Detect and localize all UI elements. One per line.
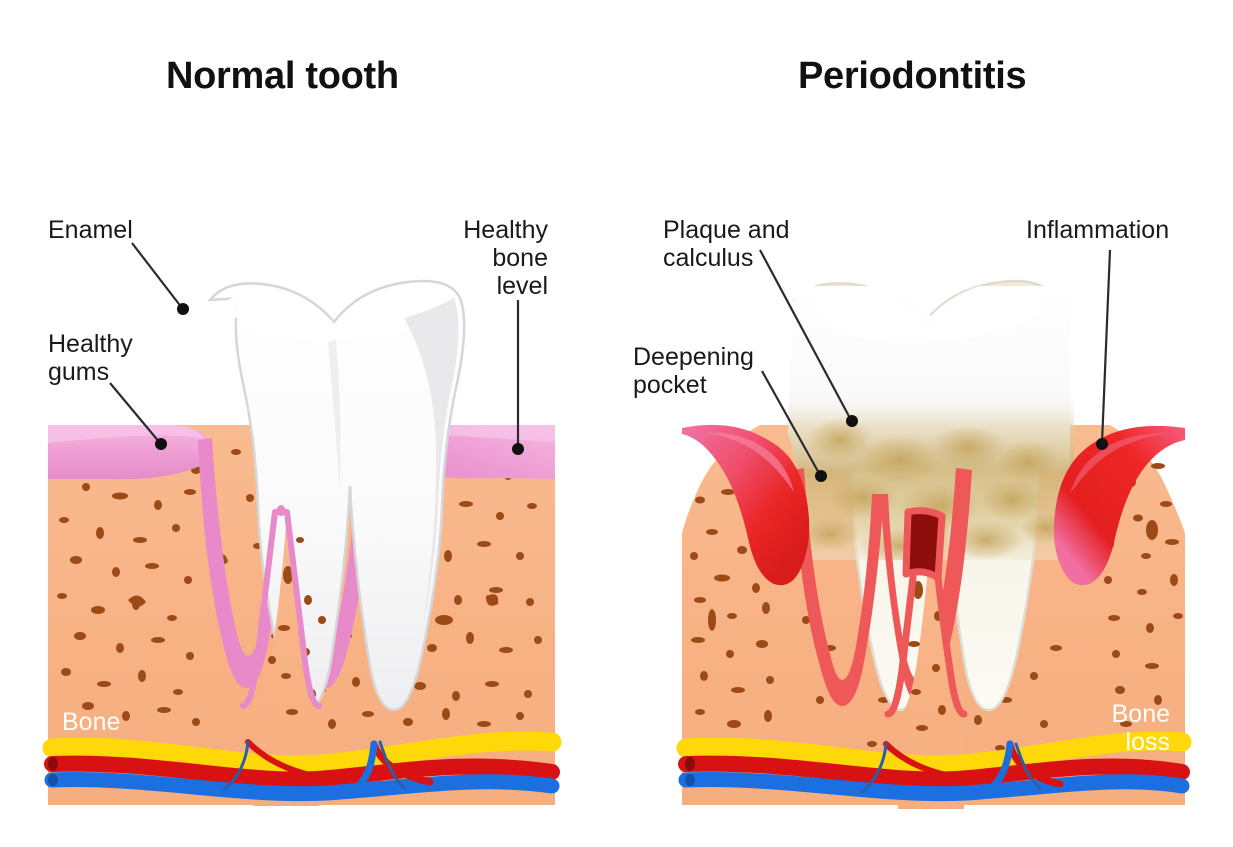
leader-enamel [132,243,182,308]
panel-title-normal: Normal tooth [166,55,399,98]
label-healthy-gums: Healthy gums [48,330,133,386]
label-plaque-and-calculus: Plaque and calculus [663,216,790,272]
dot-healthy-gums [155,438,167,450]
label-enamel: Enamel [48,216,133,244]
dot-plaque-calculus [846,415,858,427]
dot-enamel [177,303,189,315]
label-bone-loss: Bone loss [1040,700,1170,756]
dot-healthy-bone-level [512,443,524,455]
label-inflammation: Inflammation [1026,216,1169,244]
label-deepening-pocket: Deepening pocket [633,343,754,399]
panel-title-periodontitis: Periodontitis [798,55,1026,98]
leader-inflammation [1102,250,1110,443]
illustration-canvas: Normal tooth Periodontitis Enamel Health… [0,0,1233,847]
dot-inflammation [1096,438,1108,450]
label-bone: Bone [62,708,120,736]
dot-deepening-pocket [815,470,827,482]
label-healthy-bone-level: Healthy bone level [398,216,548,300]
